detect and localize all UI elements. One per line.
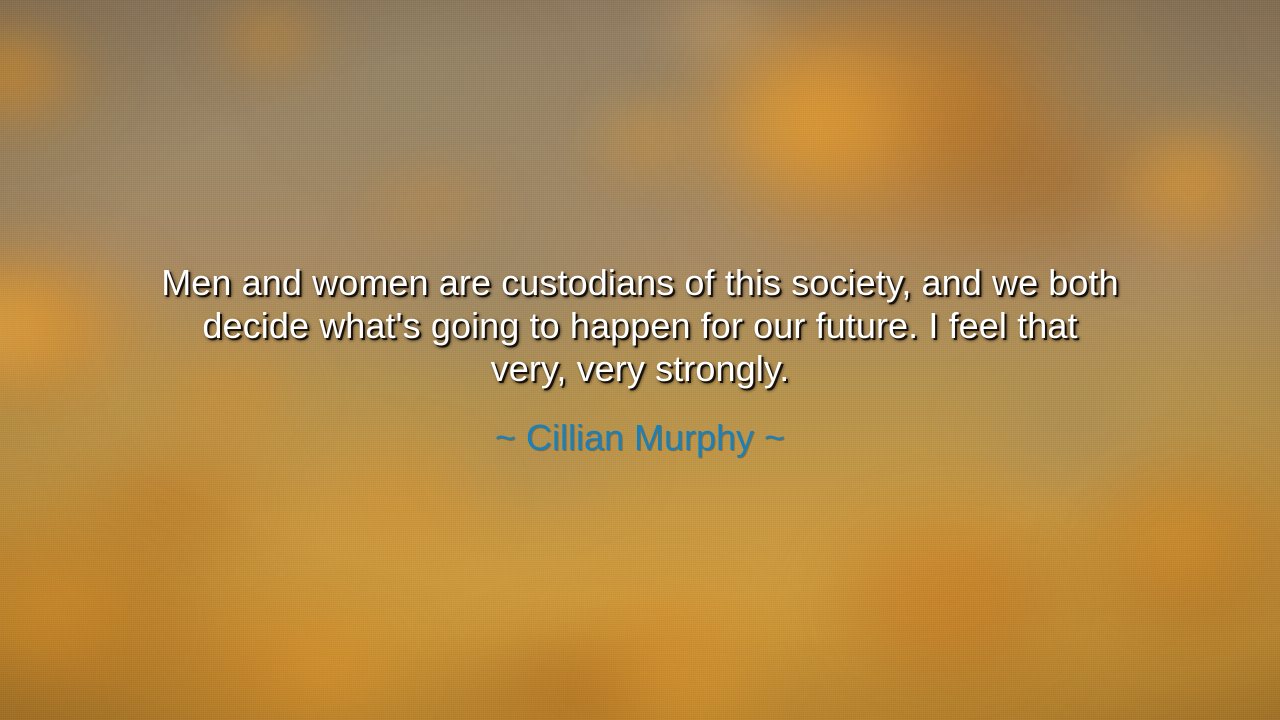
quote-line-2: decide what's going to happen for our fu… — [95, 304, 1185, 347]
quote-attribution: ~ Cillian Murphy ~ — [495, 417, 785, 459]
quote-image: Men and women are custodians of this soc… — [0, 0, 1280, 720]
quote-line-3: very, very strongly. — [95, 347, 1185, 390]
text-layer: Men and women are custodians of this soc… — [0, 0, 1280, 720]
quote-line-1: Men and women are custodians of this soc… — [95, 261, 1185, 304]
quote-text: Men and women are custodians of this soc… — [95, 261, 1185, 390]
